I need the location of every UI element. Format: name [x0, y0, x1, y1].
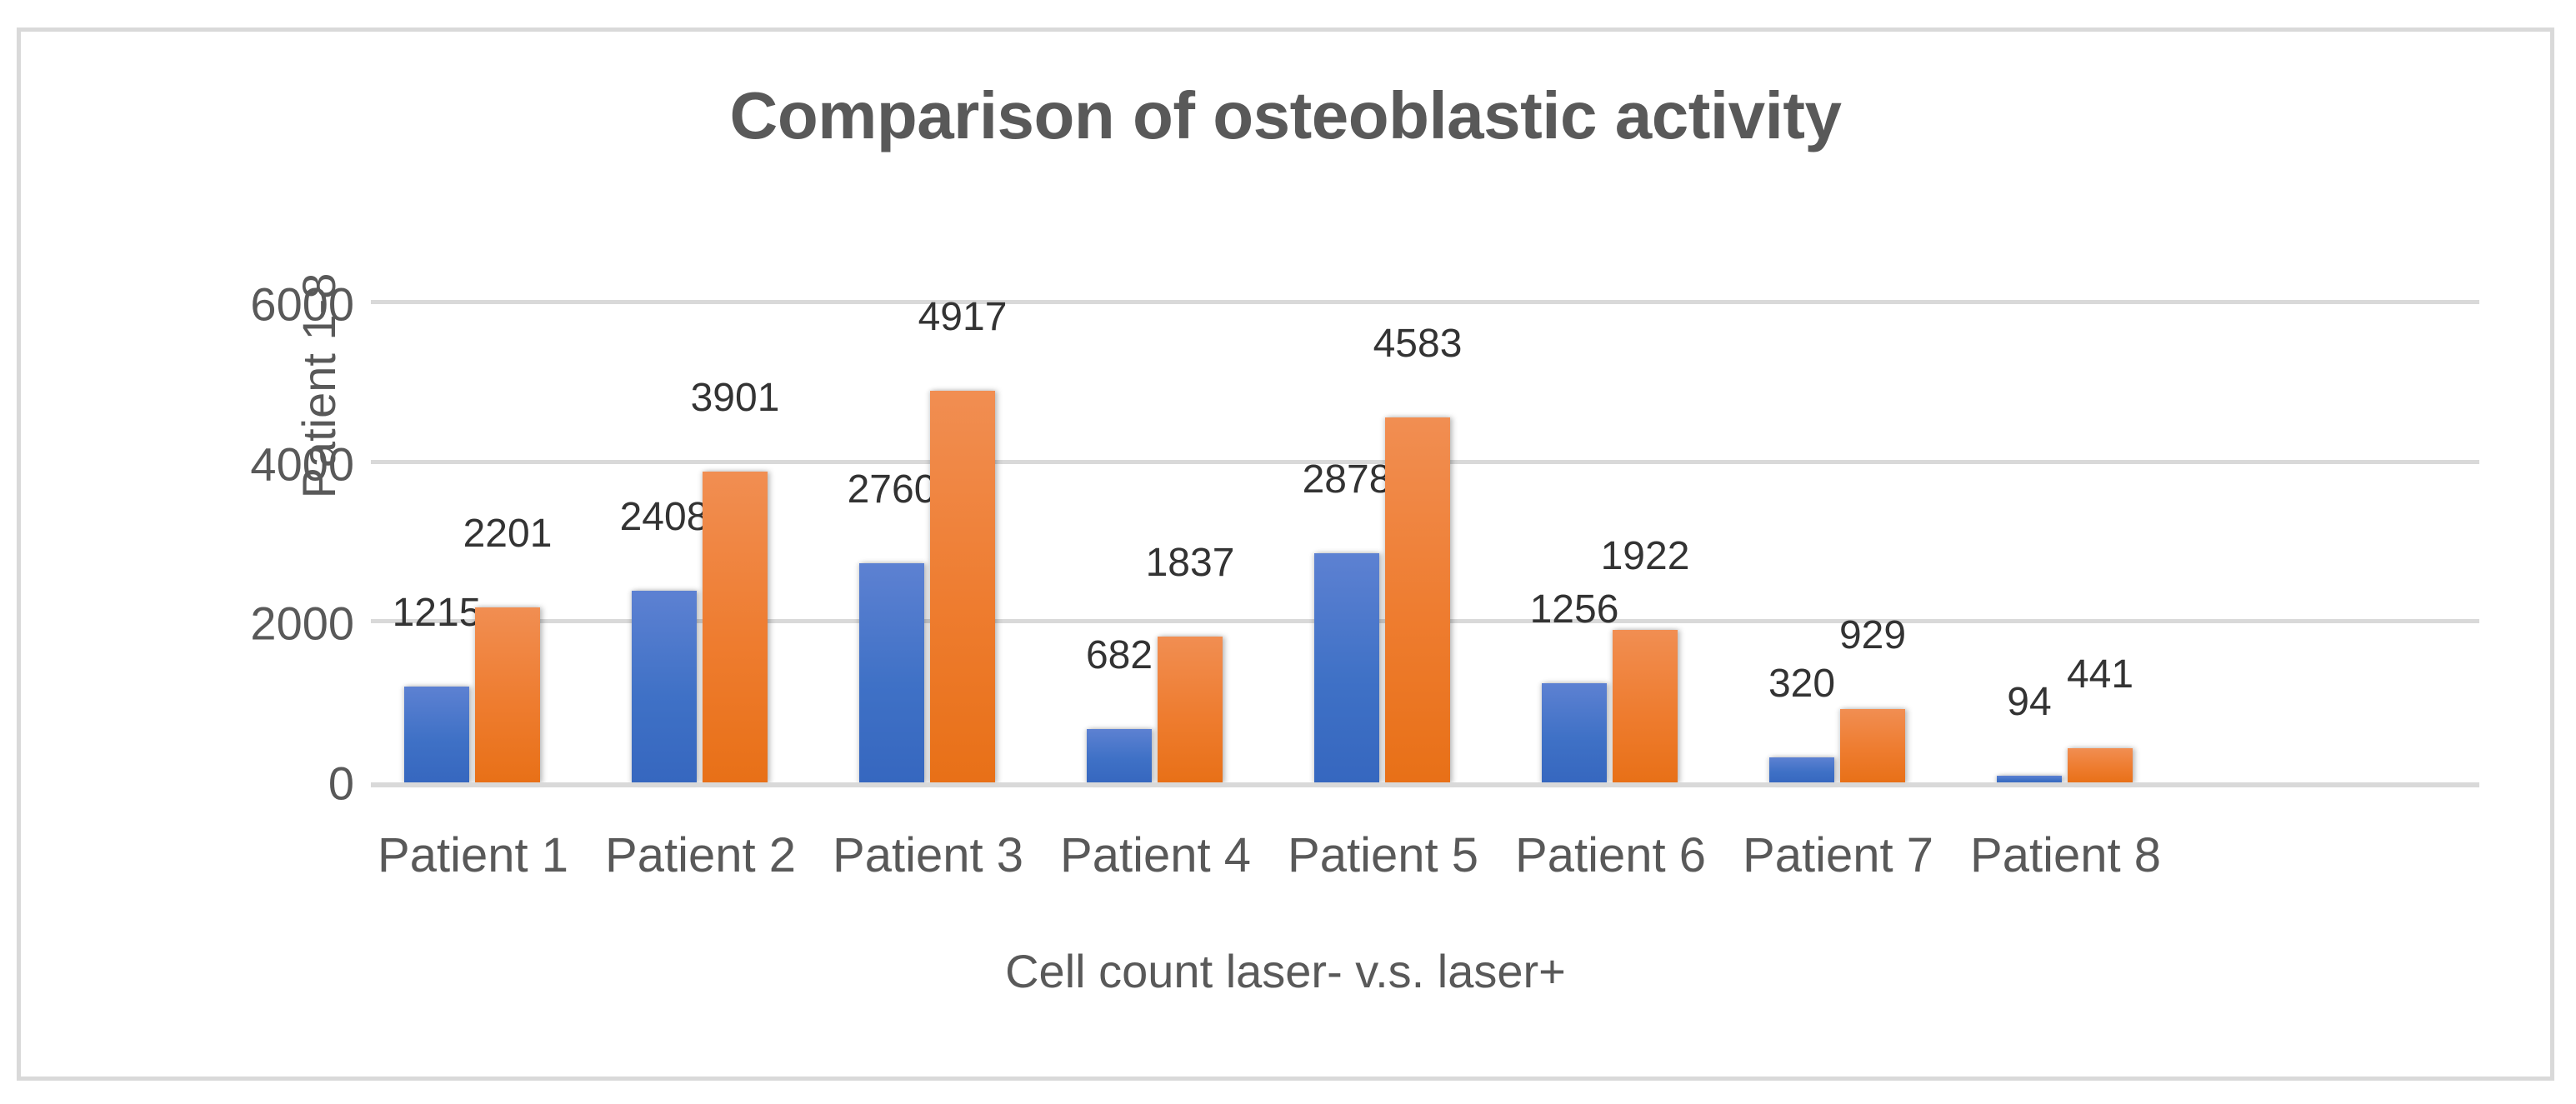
bar-group: 320929: [1769, 304, 1907, 783]
bar-laser-plus[interactable]: [1385, 417, 1450, 783]
y-tick-label: 6000: [138, 277, 354, 332]
bar-group: 24083901: [632, 304, 769, 783]
bar-laser-minus[interactable]: [859, 563, 924, 784]
bar-value-label: 320: [1718, 661, 1885, 707]
bar-value-label: 441: [2017, 652, 2183, 697]
y-tick-label: 2000: [138, 597, 354, 651]
bar-value-label: 2201: [424, 511, 591, 557]
x-tick-label: Patient 8: [1952, 827, 2179, 883]
bar-group: 28784583: [1314, 304, 1452, 783]
x-tick-label: Patient 3: [814, 827, 1042, 883]
x-tick-label: Patient 1: [359, 827, 587, 883]
bar-value-label: 1256: [1491, 587, 1658, 632]
bar-group: 94441: [1997, 304, 2134, 783]
bar-value-label: 1922: [1562, 533, 1728, 579]
bar-value-label: 3901: [652, 375, 818, 421]
x-axis-line: [371, 782, 2479, 787]
bar-laser-plus[interactable]: [1613, 630, 1678, 783]
plot-area: 1215220124083901276049176821837287845831…: [371, 286, 2479, 787]
value-area: 1215220124083901276049176821837287845831…: [371, 304, 2479, 783]
x-axis-tick-labels: Patient 1Patient 2Patient 3Patient 4Pati…: [371, 827, 2479, 902]
bar-group: 12152201: [404, 304, 542, 783]
x-tick-label: Patient 6: [1497, 827, 1724, 883]
bar-laser-plus[interactable]: [475, 607, 540, 783]
y-tick-label: 4000: [138, 437, 354, 491]
x-tick-label: Patient 5: [1269, 827, 1497, 883]
chart-frame: Comparison of osteoblastic activity Pati…: [17, 27, 2554, 1081]
x-tick-label: Patient 2: [587, 827, 814, 883]
bar-group: 27604917: [859, 304, 997, 783]
y-axis-tick-labels: 0200040006000: [129, 286, 354, 787]
bar-laser-minus[interactable]: [632, 591, 697, 783]
bar-value-label: 1837: [1107, 540, 1273, 586]
bar-laser-plus[interactable]: [703, 472, 768, 783]
bar-value-label: 4583: [1334, 321, 1501, 367]
x-tick-label: Patient 7: [1724, 827, 1952, 883]
bar-group: 12561922: [1542, 304, 1679, 783]
bar-laser-minus[interactable]: [1769, 757, 1834, 783]
bar-value-label: 4917: [879, 294, 1046, 340]
bar-laser-plus[interactable]: [1840, 709, 1905, 783]
bar-laser-minus[interactable]: [404, 687, 469, 783]
bar-value-label: 929: [1789, 612, 1956, 658]
bar-laser-minus[interactable]: [1314, 553, 1379, 783]
bar-laser-minus[interactable]: [1087, 729, 1152, 783]
bar-laser-plus[interactable]: [1158, 637, 1223, 783]
x-axis-title: Cell count laser- v.s. laser+: [21, 944, 2550, 998]
bar-laser-plus[interactable]: [930, 391, 995, 783]
y-tick-label: 0: [138, 757, 354, 811]
x-tick-label: Patient 4: [1042, 827, 1269, 883]
bar-laser-minus[interactable]: [1542, 683, 1607, 783]
bar-laser-plus[interactable]: [2068, 748, 2133, 783]
bar-group: 6821837: [1087, 304, 1224, 783]
chart-title: Comparison of osteoblastic activity: [21, 77, 2550, 154]
